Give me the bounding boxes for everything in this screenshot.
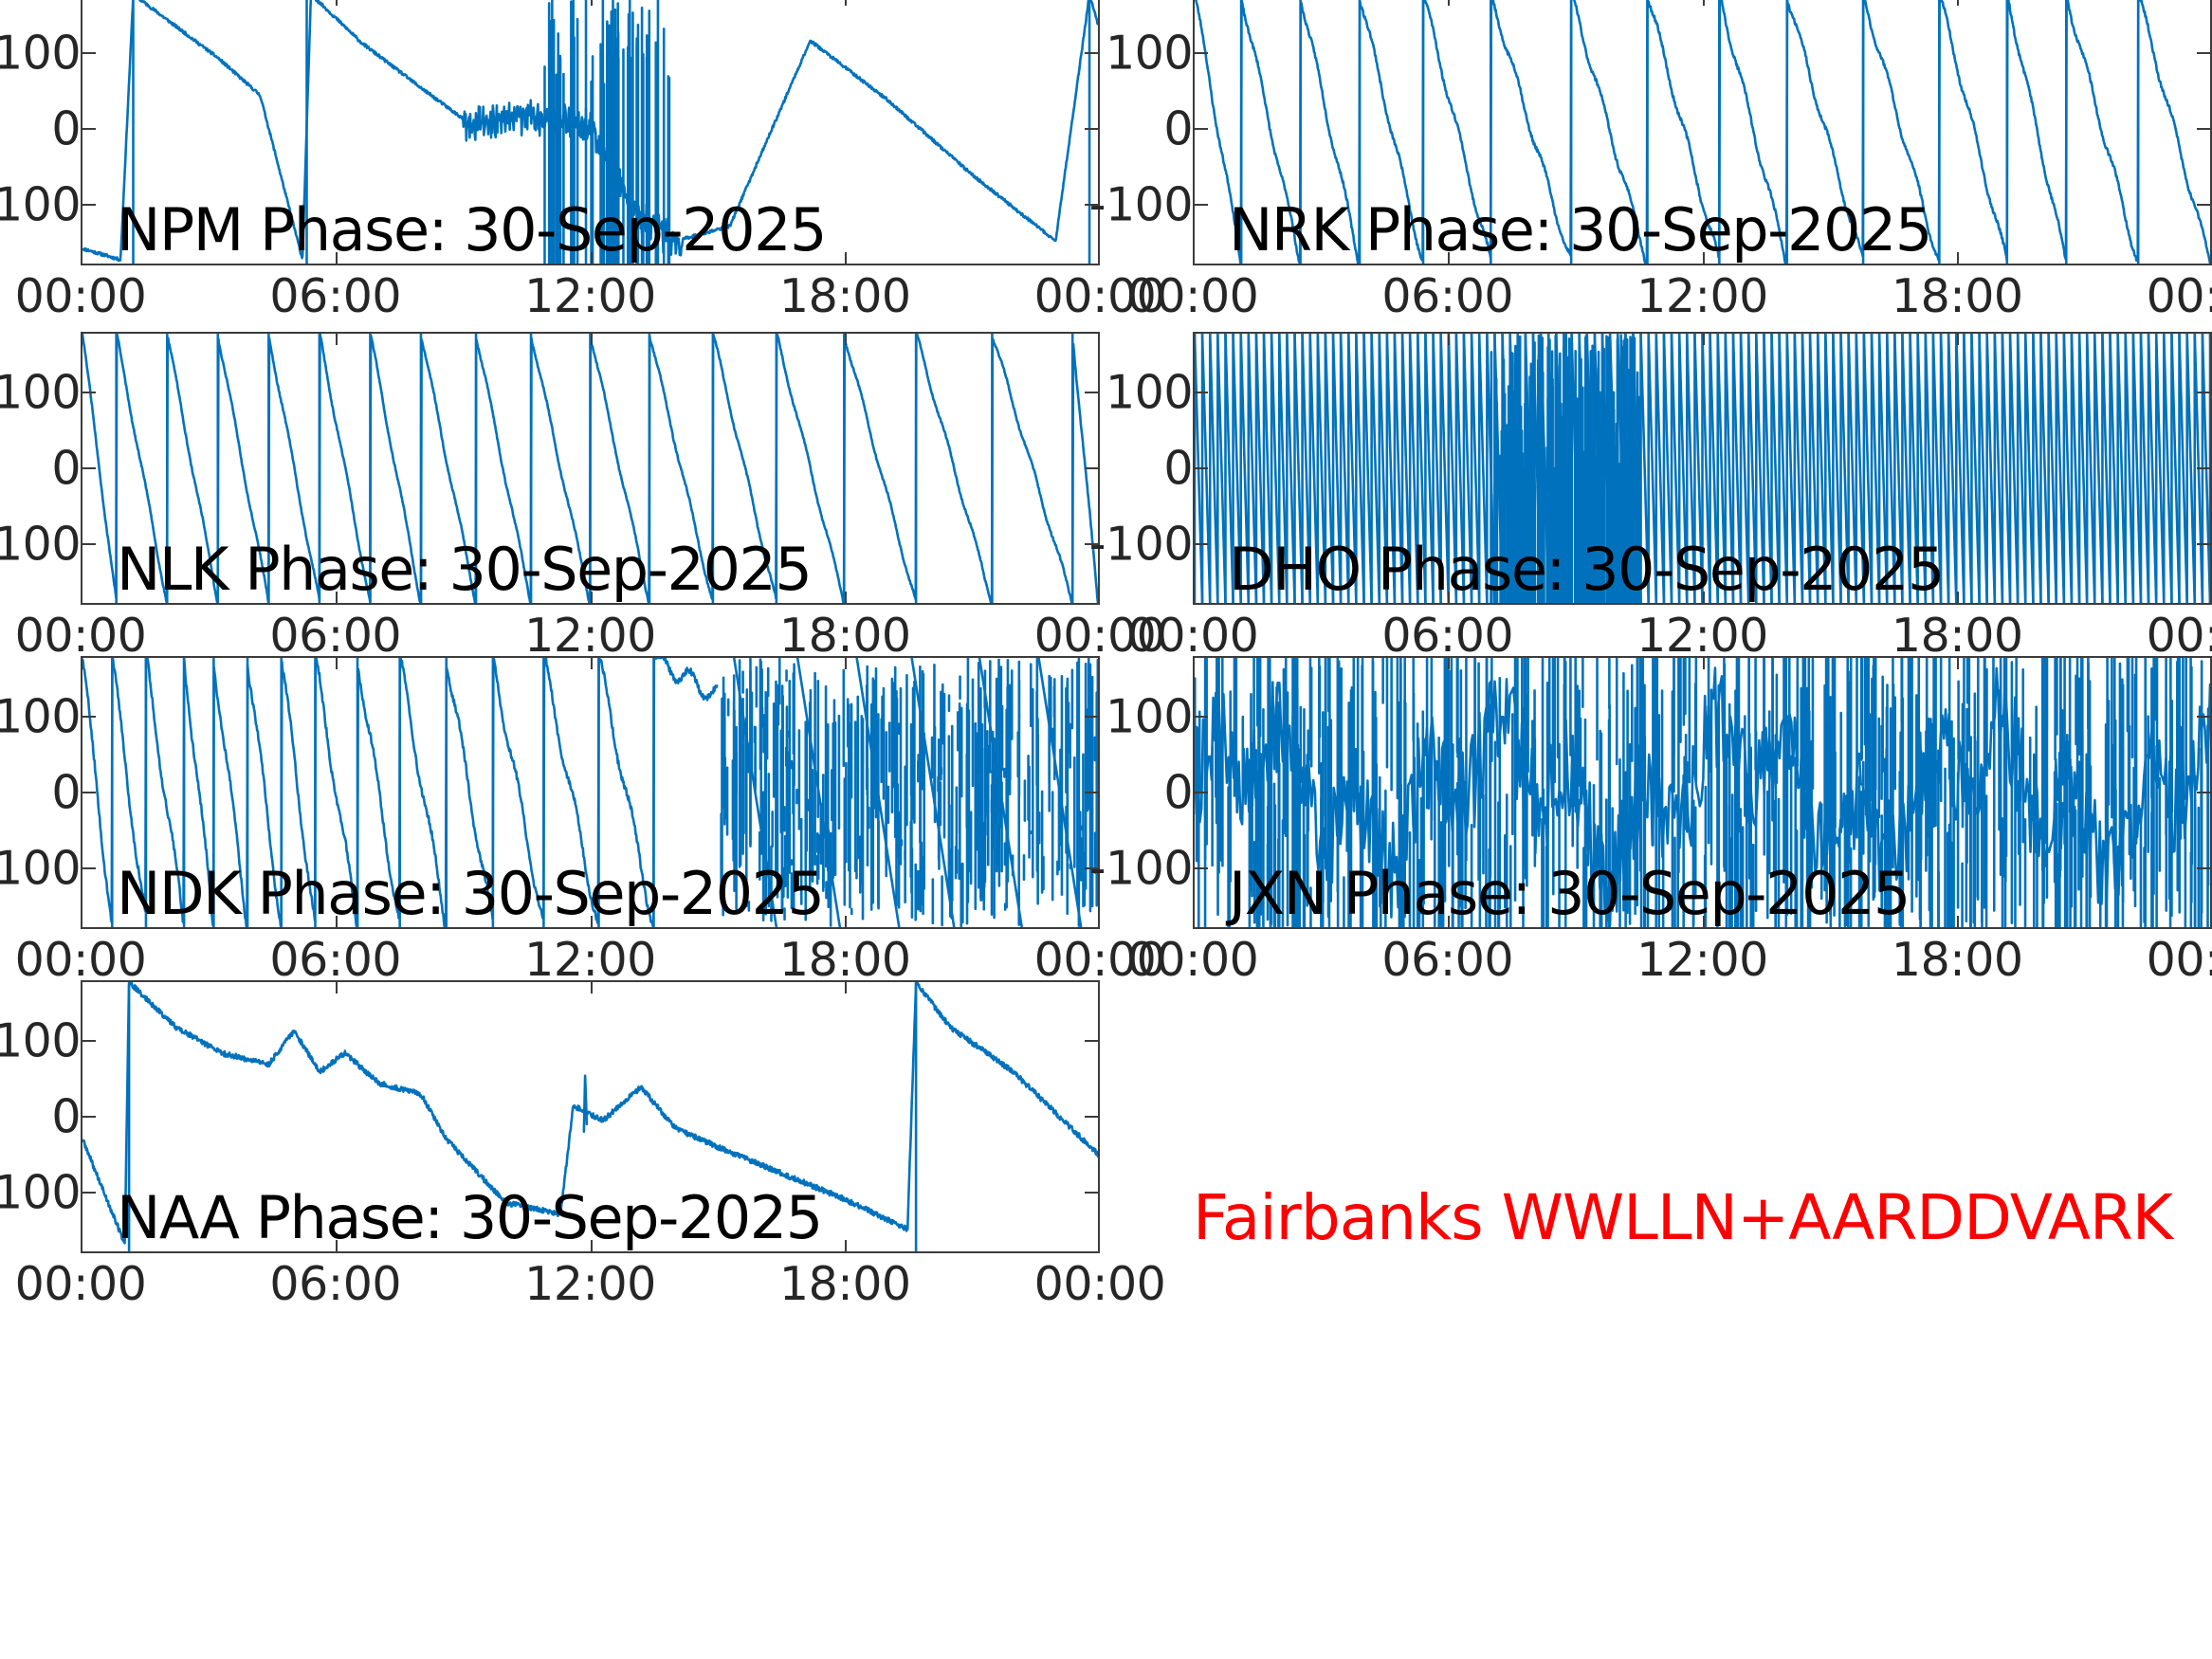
axes-ndk [81, 656, 1100, 929]
x-tick-label: 06:00 [269, 937, 401, 983]
x-tick-mark [1703, 916, 1705, 929]
y-tick-mark [81, 792, 96, 793]
x-tick-label: 00:00 [1034, 937, 1166, 983]
plot-panel-nrk: 1000-10000:0006:0012:0018:0000:00NRK Pha… [1193, 0, 2212, 265]
x-tick-mark [336, 592, 338, 605]
x-tick-mark [336, 656, 338, 669]
x-tick-mark [336, 980, 338, 994]
x-tick-label: 00:00 [15, 273, 147, 319]
x-tick-mark [845, 916, 847, 929]
y-tick-mark [1085, 543, 1100, 545]
x-tick-label: 18:00 [1892, 612, 2023, 659]
x-tick-label: 00:00 [2147, 273, 2212, 319]
y-tick-label: 0 [51, 446, 81, 492]
y-tick-mark [1193, 792, 1208, 793]
x-tick-mark [845, 1240, 847, 1253]
axes-npm [81, 0, 1100, 265]
plot-panel-nlk: 100010000:0006:0012:0018:0000:00NLK Phas… [81, 332, 1100, 605]
x-tick-label: 00:00 [2147, 937, 2212, 983]
y-axis-labels-npm: 1000100 [0, 0, 81, 265]
x-tick-label: 18:00 [779, 273, 911, 319]
x-tick-label: 12:00 [1636, 612, 1768, 659]
x-tick-label: 00:00 [15, 612, 147, 659]
y-tick-mark [81, 867, 96, 869]
x-tick-mark [845, 252, 847, 265]
y-tick-mark [1085, 716, 1100, 718]
x-tick-label: 00:00 [2147, 612, 2212, 659]
y-tick-mark [2197, 128, 2212, 130]
vlf-phase-figure: 100010000:0006:0012:0018:0000:00NPM Phas… [0, 0, 2212, 1659]
y-tick-label: 0 [51, 106, 81, 153]
x-axis-labels-nrk: 00:0006:0012:0018:0000:00 [1193, 265, 2212, 324]
x-tick-mark [336, 916, 338, 929]
x-tick-mark [1703, 0, 1705, 6]
y-axis-labels-naa: 1000100 [0, 980, 81, 1253]
x-tick-mark [591, 980, 593, 994]
x-tick-label: 12:00 [524, 273, 656, 319]
x-tick-mark [1957, 252, 1959, 265]
x-tick-label: 00:00 [1034, 1261, 1166, 1307]
x-tick-label: 18:00 [1892, 937, 2023, 983]
x-tick-mark [1448, 252, 1450, 265]
axes-nrk [1193, 0, 2212, 265]
x-tick-mark [845, 332, 847, 345]
x-axis-labels-naa: 00:0006:0012:0018:0000:00 [81, 1253, 1100, 1312]
y-tick-mark [1085, 1192, 1100, 1194]
y-tick-mark [81, 716, 96, 718]
y-tick-label: 0 [51, 1094, 81, 1140]
x-tick-label: 06:00 [269, 612, 401, 659]
x-tick-mark [1957, 592, 1959, 605]
y-tick-label: 100 [0, 30, 81, 77]
y-tick-mark [2197, 52, 2212, 54]
x-tick-label: 18:00 [779, 937, 911, 983]
y-tick-label: 100 [0, 846, 81, 892]
y-tick-mark [81, 128, 96, 130]
x-tick-mark [591, 332, 593, 345]
trace-svg-dho [1195, 334, 2210, 603]
plot-panel-jxn: 1000-10000:0006:0012:0018:0000:00JXN Pha… [1193, 656, 2212, 929]
y-tick-label: 100 [0, 1018, 81, 1065]
y-tick-mark [1193, 543, 1208, 545]
y-tick-mark [81, 1116, 96, 1118]
x-tick-mark [1448, 916, 1450, 929]
y-tick-mark [81, 1192, 96, 1194]
x-tick-mark [845, 656, 847, 669]
y-tick-mark [1193, 392, 1208, 393]
x-tick-mark [1957, 656, 1959, 669]
y-tick-mark [2197, 543, 2212, 545]
y-tick-mark [1193, 716, 1208, 718]
y-tick-mark [2197, 716, 2212, 718]
y-axis-labels-ndk: 1000100 [0, 656, 81, 929]
x-tick-mark [1448, 656, 1450, 669]
trace-svg-ndk [82, 658, 1098, 927]
x-axis-labels-npm: 00:0006:0012:0018:0000:00 [81, 265, 1100, 324]
y-tick-label: 0 [1163, 770, 1193, 816]
x-tick-mark [591, 916, 593, 929]
x-tick-label: 12:00 [1636, 273, 1768, 319]
x-tick-mark [336, 0, 338, 6]
x-tick-label: 06:00 [269, 1261, 401, 1307]
x-tick-label: 00:00 [15, 1261, 147, 1307]
y-tick-mark [1085, 1116, 1100, 1118]
y-tick-label: 100 [0, 182, 81, 228]
y-tick-mark [1193, 52, 1208, 54]
x-tick-mark [1703, 332, 1705, 345]
x-tick-label: 06:00 [269, 273, 401, 319]
y-tick-mark [1085, 204, 1100, 206]
x-tick-mark [591, 0, 593, 6]
x-tick-mark [591, 252, 593, 265]
x-tick-mark [1703, 252, 1705, 265]
x-tick-mark [1957, 332, 1959, 345]
y-tick-mark [81, 543, 96, 545]
trace-svg-jxn [1195, 658, 2210, 927]
axes-nlk [81, 332, 1100, 605]
y-tick-label: 100 [0, 1170, 81, 1216]
axes-naa [81, 980, 1100, 1253]
y-tick-mark [1193, 204, 1208, 206]
x-tick-mark [336, 252, 338, 265]
x-tick-label: 12:00 [524, 612, 656, 659]
x-tick-label: 00:00 [1034, 273, 1166, 319]
y-tick-mark [1193, 467, 1208, 469]
y-tick-mark [81, 467, 96, 469]
x-tick-label: 06:00 [1381, 937, 1513, 983]
axes-jxn [1193, 656, 2212, 929]
plot-panel-npm: 100010000:0006:0012:0018:0000:00NPM Phas… [81, 0, 1100, 265]
y-tick-mark [2197, 867, 2212, 869]
x-tick-label: 06:00 [1381, 273, 1513, 319]
x-tick-mark [336, 1240, 338, 1253]
y-tick-mark [2197, 467, 2212, 469]
y-tick-label: 100 [0, 521, 81, 568]
y-tick-mark [1193, 128, 1208, 130]
y-tick-mark [1085, 792, 1100, 793]
y-tick-label: -100 [1089, 521, 1193, 568]
x-tick-label: 18:00 [779, 612, 911, 659]
y-tick-mark [1085, 128, 1100, 130]
x-tick-mark [1448, 0, 1450, 6]
axes-dho [1193, 332, 2212, 605]
y-tick-mark [1193, 867, 1208, 869]
x-tick-mark [845, 0, 847, 6]
y-axis-labels-nlk: 1000100 [0, 332, 81, 605]
x-tick-mark [1957, 916, 1959, 929]
y-tick-mark [1085, 52, 1100, 54]
x-tick-mark [1957, 0, 1959, 6]
y-tick-label: 0 [1163, 446, 1193, 492]
x-tick-mark [1703, 656, 1705, 669]
y-tick-label: 100 [0, 694, 81, 740]
x-axis-labels-dho: 00:0006:0012:0018:0000:00 [1193, 605, 2212, 664]
y-tick-label: -100 [1089, 846, 1193, 892]
x-tick-mark [591, 656, 593, 669]
x-tick-mark [336, 332, 338, 345]
y-tick-label: 100 [1106, 30, 1193, 77]
x-tick-mark [1448, 332, 1450, 345]
x-tick-mark [1448, 592, 1450, 605]
y-tick-mark [1085, 467, 1100, 469]
x-tick-label: 12:00 [1636, 937, 1768, 983]
y-tick-label: 100 [1106, 694, 1193, 740]
x-tick-mark [591, 1240, 593, 1253]
x-axis-labels-ndk: 00:0006:0012:0018:0000:00 [81, 929, 1100, 988]
y-tick-mark [1085, 867, 1100, 869]
x-tick-mark [591, 592, 593, 605]
y-tick-mark [2197, 204, 2212, 206]
y-tick-mark [1085, 392, 1100, 393]
plot-panel-dho: 1000-10000:0006:0012:0018:0000:00DHO Pha… [1193, 332, 2212, 605]
trace-svg-naa [82, 982, 1098, 1251]
x-axis-labels-nlk: 00:0006:0012:0018:0000:00 [81, 605, 1100, 664]
y-tick-label: 100 [0, 370, 81, 416]
y-tick-mark [2197, 792, 2212, 793]
x-tick-label: 00:00 [1127, 612, 1259, 659]
x-tick-label: 18:00 [779, 1261, 911, 1307]
x-tick-label: 18:00 [1892, 273, 2023, 319]
y-tick-label: 100 [1106, 370, 1193, 416]
y-tick-mark [1085, 1040, 1100, 1042]
x-axis-labels-jxn: 00:0006:0012:0018:0000:00 [1193, 929, 2212, 988]
y-tick-label: -100 [1089, 182, 1193, 228]
x-tick-label: 12:00 [524, 1261, 656, 1307]
network-annotation: Fairbanks WWLLN+AARDDVARK [1193, 1187, 2172, 1249]
y-tick-label: 0 [51, 770, 81, 816]
trace-svg-npm [82, 0, 1098, 264]
x-tick-label: 00:00 [1127, 273, 1259, 319]
plot-panel-ndk: 100010000:0006:0012:0018:0000:00NDK Phas… [81, 656, 1100, 929]
x-tick-label: 00:00 [1127, 937, 1259, 983]
x-tick-label: 12:00 [524, 937, 656, 983]
plot-panel-naa: 100010000:0006:0012:0018:0000:00NAA Phas… [81, 980, 1100, 1253]
y-tick-mark [81, 52, 96, 54]
x-tick-label: 00:00 [1034, 612, 1166, 659]
y-tick-mark [81, 1040, 96, 1042]
x-tick-mark [1703, 592, 1705, 605]
y-tick-mark [81, 204, 96, 206]
trace-svg-nrk [1195, 0, 2210, 264]
x-tick-mark [845, 592, 847, 605]
y-tick-mark [81, 392, 96, 393]
x-tick-mark [845, 980, 847, 994]
x-tick-label: 06:00 [1381, 612, 1513, 659]
trace-svg-nlk [82, 334, 1098, 603]
y-tick-mark [2197, 392, 2212, 393]
y-tick-label: 0 [1163, 106, 1193, 153]
x-tick-label: 00:00 [15, 937, 147, 983]
